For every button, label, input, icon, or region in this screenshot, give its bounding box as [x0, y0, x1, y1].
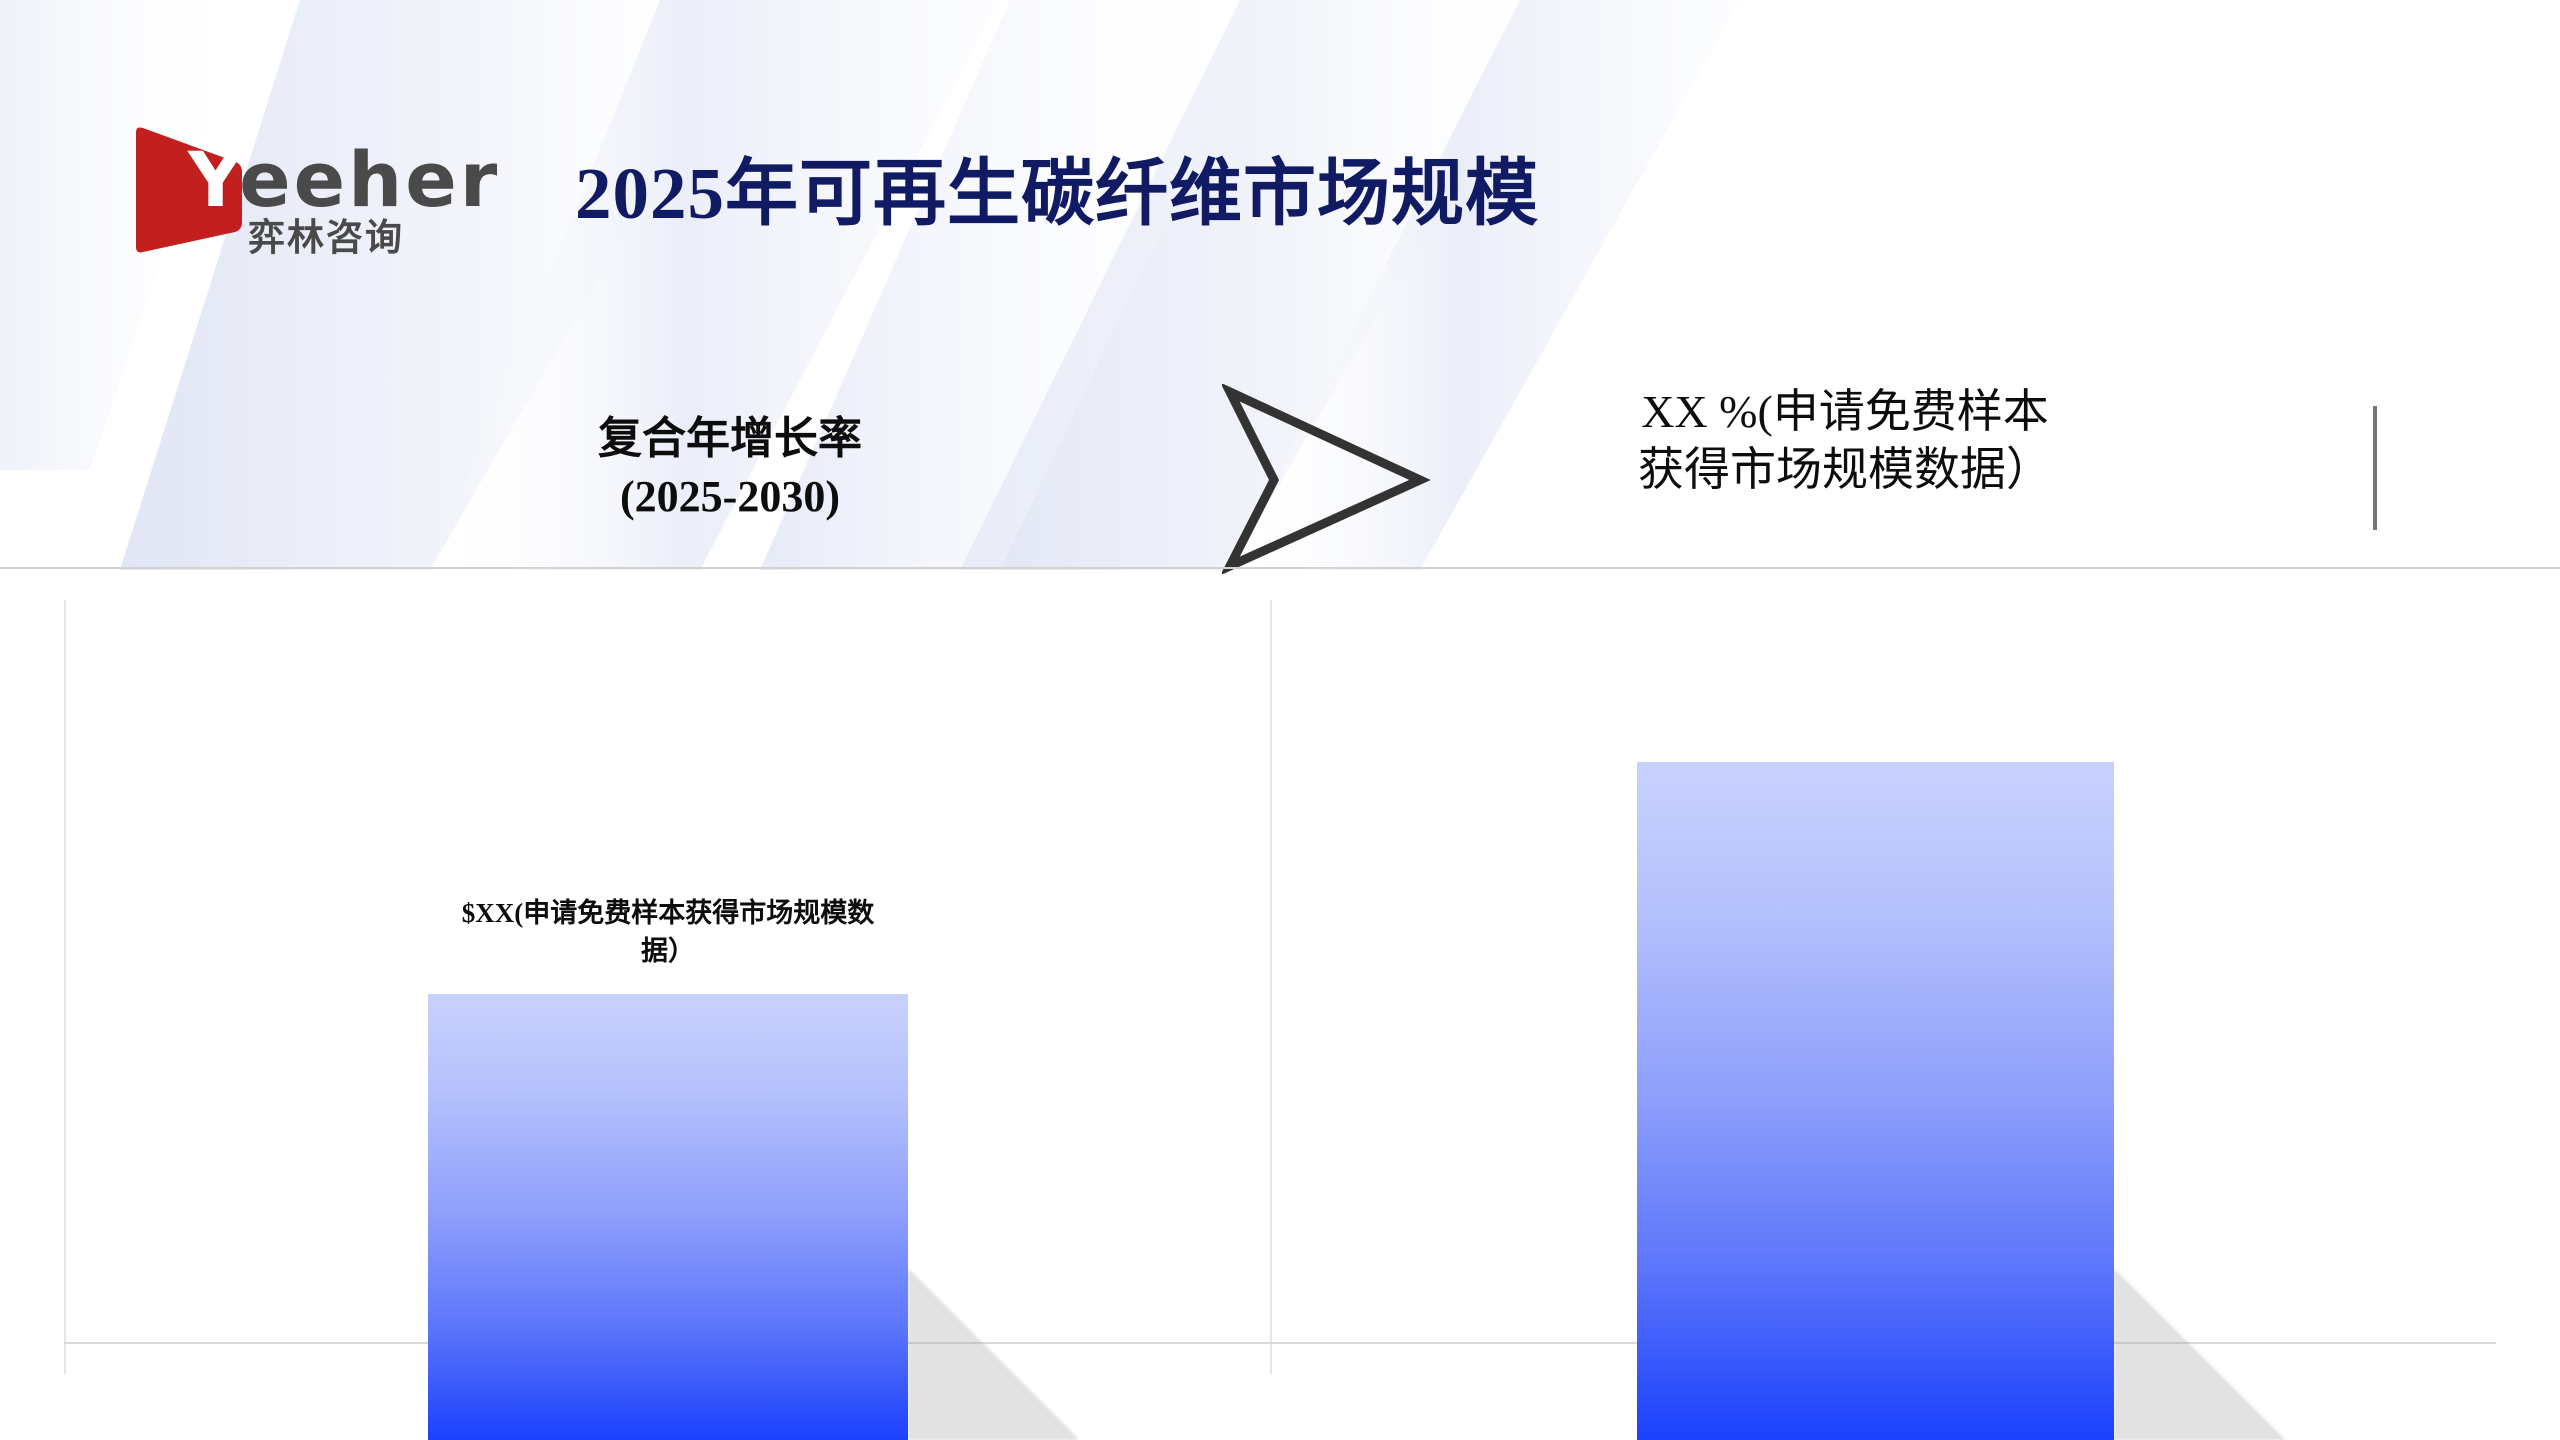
bar-rect-2025[interactable]	[428, 994, 908, 1440]
bar-shadow-2030	[2114, 1270, 2284, 1440]
bar-column-2025[interactable]: $XX(申请免费样本获得市场规模数据） 2025	[428, 994, 908, 1440]
logo-word-rest: eeher	[239, 135, 500, 224]
cagr-label-line1: 复合年增长率	[540, 410, 920, 468]
cagr-value: XX %(申请免费样本 获得市场规模数据）	[1590, 383, 2100, 499]
slide-canvas: Yeeher 弈林咨询 2025年可再生碳纤维市场规模 复合年增长率 (2025…	[0, 0, 2560, 1440]
logo-wordmark: Yeeher	[188, 142, 500, 218]
cagr-value-line2: 获得市场规模数据）	[1590, 441, 2100, 499]
logo-word-initial: Y	[188, 135, 239, 224]
cagr-label: 复合年增长率 (2025-2030)	[540, 410, 920, 526]
chart-left-axis-line	[64, 600, 66, 1374]
chart-panel-divider	[1270, 600, 1272, 1374]
brand-logo[interactable]: Yeeher 弈林咨询	[128, 118, 478, 258]
bar-rect-2030[interactable]	[1637, 762, 2114, 1440]
header-vertical-divider	[2373, 406, 2377, 530]
arrow-right-icon	[1222, 384, 1432, 574]
bar-chart: $XX(申请免费样本获得市场规模数据） 2025 2030	[0, 569, 2560, 1440]
cagr-label-line2: (2025-2030)	[540, 468, 920, 526]
bar-value-label-2025: $XX(申请免费样本获得市场规模数据）	[453, 894, 883, 970]
logo-subtitle: 弈林咨询	[248, 218, 404, 258]
cagr-value-line1: XX %(申请免费样本	[1590, 383, 2100, 441]
page-title: 2025年可再生碳纤维市场规模	[575, 152, 1539, 236]
bar-shadow-2025	[908, 1270, 1078, 1440]
bar-column-2030[interactable]: 2030	[1637, 762, 2114, 1440]
